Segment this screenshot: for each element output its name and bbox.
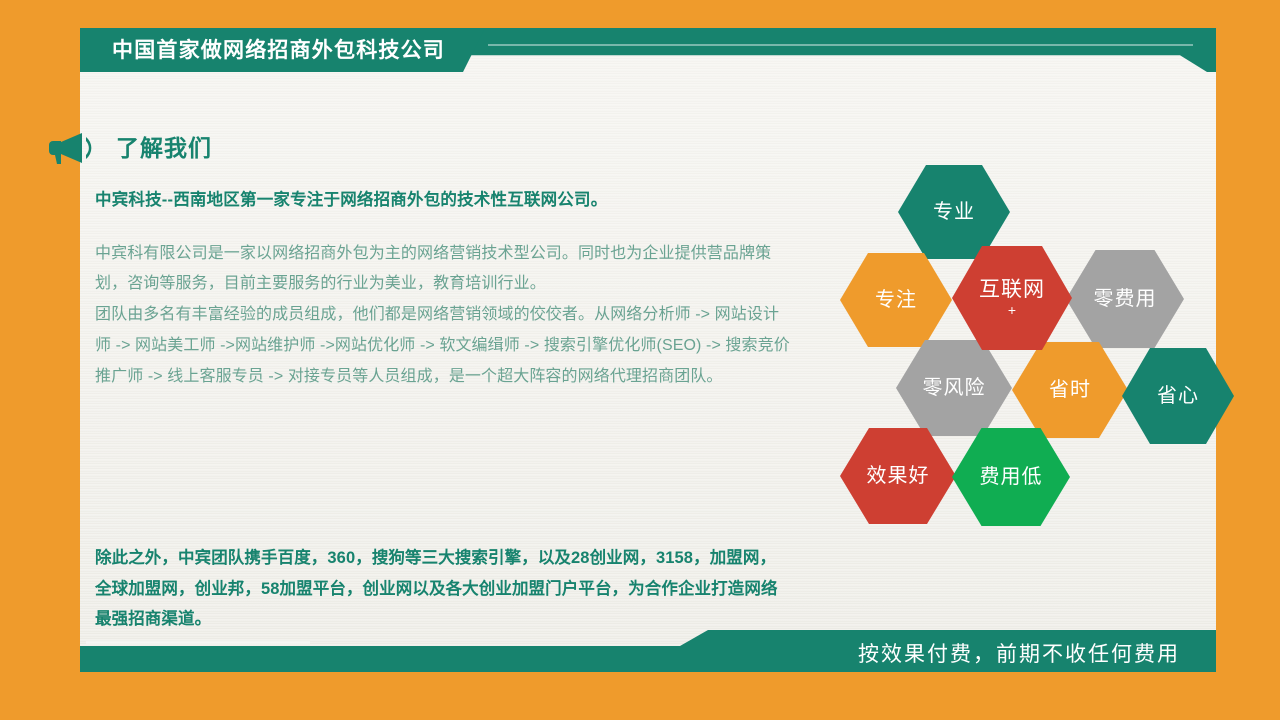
body-paragraph-1: 中宾科有限公司是一家以网络招商外包为主的网络营销技术型公司。同时也为企业提供营品… [95,239,795,300]
hexagon-tile: 零费用 [1066,250,1184,348]
hexagon-label: 零风险 [923,377,986,399]
hexagon-tile: 互联网+ [952,246,1072,350]
body-column: 中宾科技--西南地区第一家专注于网络招商外包的技术性互联网公司。 中宾科有限公司… [95,188,795,392]
hexagon-label: 效果好 [867,465,930,487]
section-heading-label: 了解我们 [116,137,212,160]
header-title-block: 中国首家做网络招商外包科技公司 [80,28,485,72]
hexagon-label: 互联网 [979,278,1045,301]
hexagon-sublabel: + [1008,303,1016,318]
section-heading: 了解我们 [48,131,212,165]
footer-tagline: 按效果付费，前期不收任何费用 [858,644,1180,665]
body-lead: 中宾科技--西南地区第一家专注于网络招商外包的技术性互联网公司。 [95,188,795,213]
hexagon-label: 费用低 [980,466,1043,488]
hexagon-label: 省心 [1157,385,1199,407]
body-closing-paragraph: 除此之外，中宾团队携手百度，360，搜狗等三大搜索引擎，以及28创业网，3158… [95,543,785,635]
hexagon-tile: 专业 [898,165,1010,259]
body-paragraph-2: 团队由多名有丰富经验的成员组成，他们都是网络营销领域的佼佼者。从网络分析师 ->… [95,300,795,392]
header-hairline-divider [488,44,1193,46]
slide-root: 中国首家做网络招商外包科技公司 了解我们 中宾科技--西南地区第一家专注于网络招… [0,0,1280,720]
hexagon-tile: 专注 [840,253,952,347]
hexagon-label: 零费用 [1094,288,1157,310]
footer-hairline-divider [86,641,310,644]
hexagon-label: 专业 [933,201,975,223]
hexagon-label: 省时 [1049,379,1091,401]
hexagon-tile: 费用低 [952,428,1070,526]
hexagon-label: 专注 [875,289,917,311]
megaphone-icon [48,131,94,165]
hexagon-tile: 效果好 [840,428,956,524]
hexagon-tile: 零风险 [896,340,1012,436]
hexagon-cluster: 专业专注互联网+零费用零风险省时省心效果好费用低 [828,158,1228,538]
hexagon-tile: 省时 [1012,342,1128,438]
hexagon-tile: 省心 [1122,348,1234,444]
page-title: 中国首家做网络招商外包科技公司 [80,40,445,61]
